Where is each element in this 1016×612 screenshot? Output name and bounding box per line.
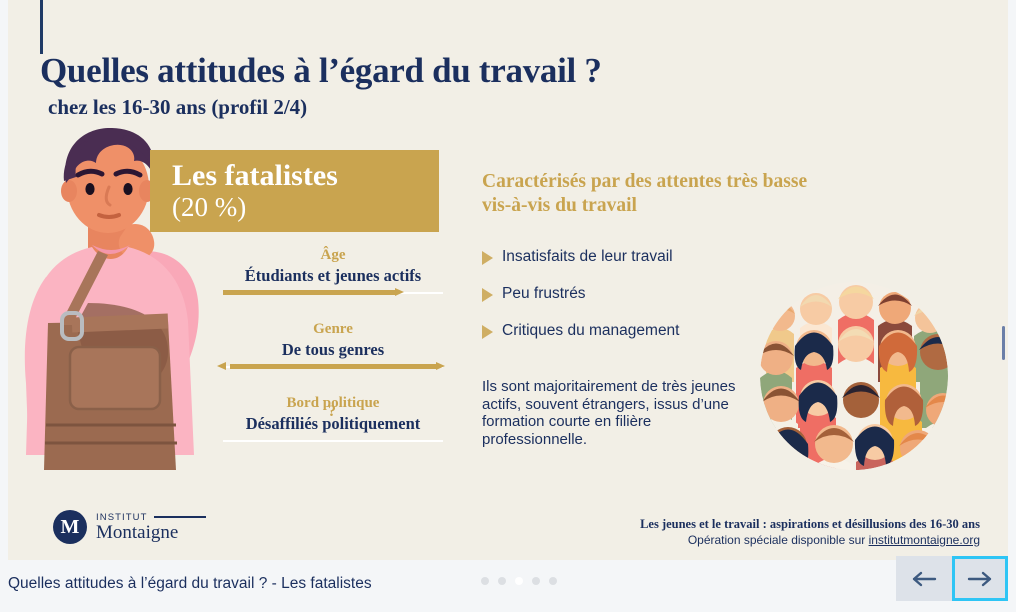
page-title: Quelles attitudes à l’égard du travail ? — [40, 50, 840, 92]
bullet-label: Critiques du management — [502, 322, 680, 340]
attribute-row-age: Âge Étudiants et jeunes actifs — [223, 246, 443, 297]
attribute-value: Étudiants et jeunes actifs — [223, 265, 443, 287]
title-accent-bar — [40, 0, 43, 54]
pagination-dot-active[interactable] — [515, 577, 523, 585]
list-item: Peu frustrés — [482, 285, 782, 303]
page-subtitle: chez les 16-30 ans (profil 2/4) — [48, 94, 840, 120]
logo-top-word: INSTITUT — [96, 512, 148, 523]
logo-rule — [154, 516, 206, 518]
triangle-bullet-icon — [482, 251, 493, 265]
arrow-right-icon — [967, 571, 993, 587]
slide-pagination-dots[interactable] — [481, 577, 557, 585]
pagination-dot[interactable] — [498, 577, 506, 585]
title-block: Quelles attitudes à l’égard du travail ?… — [40, 50, 840, 120]
vertical-scrollbar-thumb[interactable] — [1002, 326, 1005, 360]
attribute-value: De tous genres — [223, 339, 443, 361]
credit-prefix: Opération spéciale disponible sur — [688, 533, 869, 547]
list-item: Critiques du management — [482, 322, 782, 340]
slide-viewer: Quelles attitudes à l’égard du travail ?… — [0, 0, 1016, 612]
pagination-dot[interactable] — [532, 577, 540, 585]
list-item: Insatisfaits de leur travail — [482, 248, 782, 266]
bullet-label: Insatisfaits de leur travail — [502, 248, 673, 266]
logo-bottom-word: Montaigne — [96, 522, 206, 543]
profile-percentage: (20 %) — [172, 192, 439, 222]
attribute-label: Genre — [223, 320, 443, 339]
description-paragraph: Ils sont majoritairement de très jeunes … — [482, 378, 754, 448]
attribute-row-bord-politique: Bord politique Désaffiliés politiquement… — [223, 394, 443, 445]
credit-link[interactable]: institutmontaigne.org — [869, 533, 980, 547]
left-edge-strip — [0, 0, 8, 560]
credit-subtitle: Opération spéciale disponible sur instit… — [640, 532, 980, 548]
attribute-label: Âge — [223, 246, 443, 265]
attribute-scale-age — [223, 288, 443, 297]
attribute-question-mark: ? — [328, 403, 336, 421]
characteristics-bullet-list: Insatisfaits de leur travail Peu frustré… — [482, 248, 782, 359]
logo-monogram-icon: M — [53, 510, 87, 544]
slide-canvas[interactable]: Quelles attitudes à l’égard du travail ?… — [8, 0, 1008, 560]
profile-name: Les fatalistes — [172, 160, 439, 192]
characteristics-heading: Caractérisés par des attentes très basse… — [482, 170, 812, 218]
next-slide-button[interactable] — [952, 556, 1008, 601]
slide-caption: Quelles attitudes à l’égard du travail ?… — [8, 575, 372, 593]
previous-slide-button[interactable] — [896, 556, 952, 601]
bullet-label: Peu frustrés — [502, 285, 586, 303]
triangle-bullet-icon — [482, 288, 493, 302]
viewer-toolbar: Quelles attitudes à l’égard du travail ?… — [0, 560, 1016, 612]
credit-title: Les jeunes et le travail : aspirations e… — [640, 516, 980, 532]
attribute-scale-bord-politique — [223, 436, 443, 445]
attribute-row-genre: Genre De tous genres — [223, 320, 443, 371]
attribute-list: Âge Étudiants et jeunes actifs Genre De … — [223, 246, 443, 468]
arrow-left-icon — [911, 571, 937, 587]
crowd-illustration — [760, 282, 948, 470]
source-credit: Les jeunes et le travail : aspirations e… — [640, 516, 980, 548]
pagination-dot[interactable] — [481, 577, 489, 585]
attribute-scale-genre — [223, 362, 443, 371]
institut-montaigne-logo: M INSTITUT Montaigne — [53, 510, 206, 544]
triangle-bullet-icon — [482, 325, 493, 339]
pagination-dot[interactable] — [549, 577, 557, 585]
profile-banner: Les fatalistes (20 %) — [150, 150, 439, 232]
